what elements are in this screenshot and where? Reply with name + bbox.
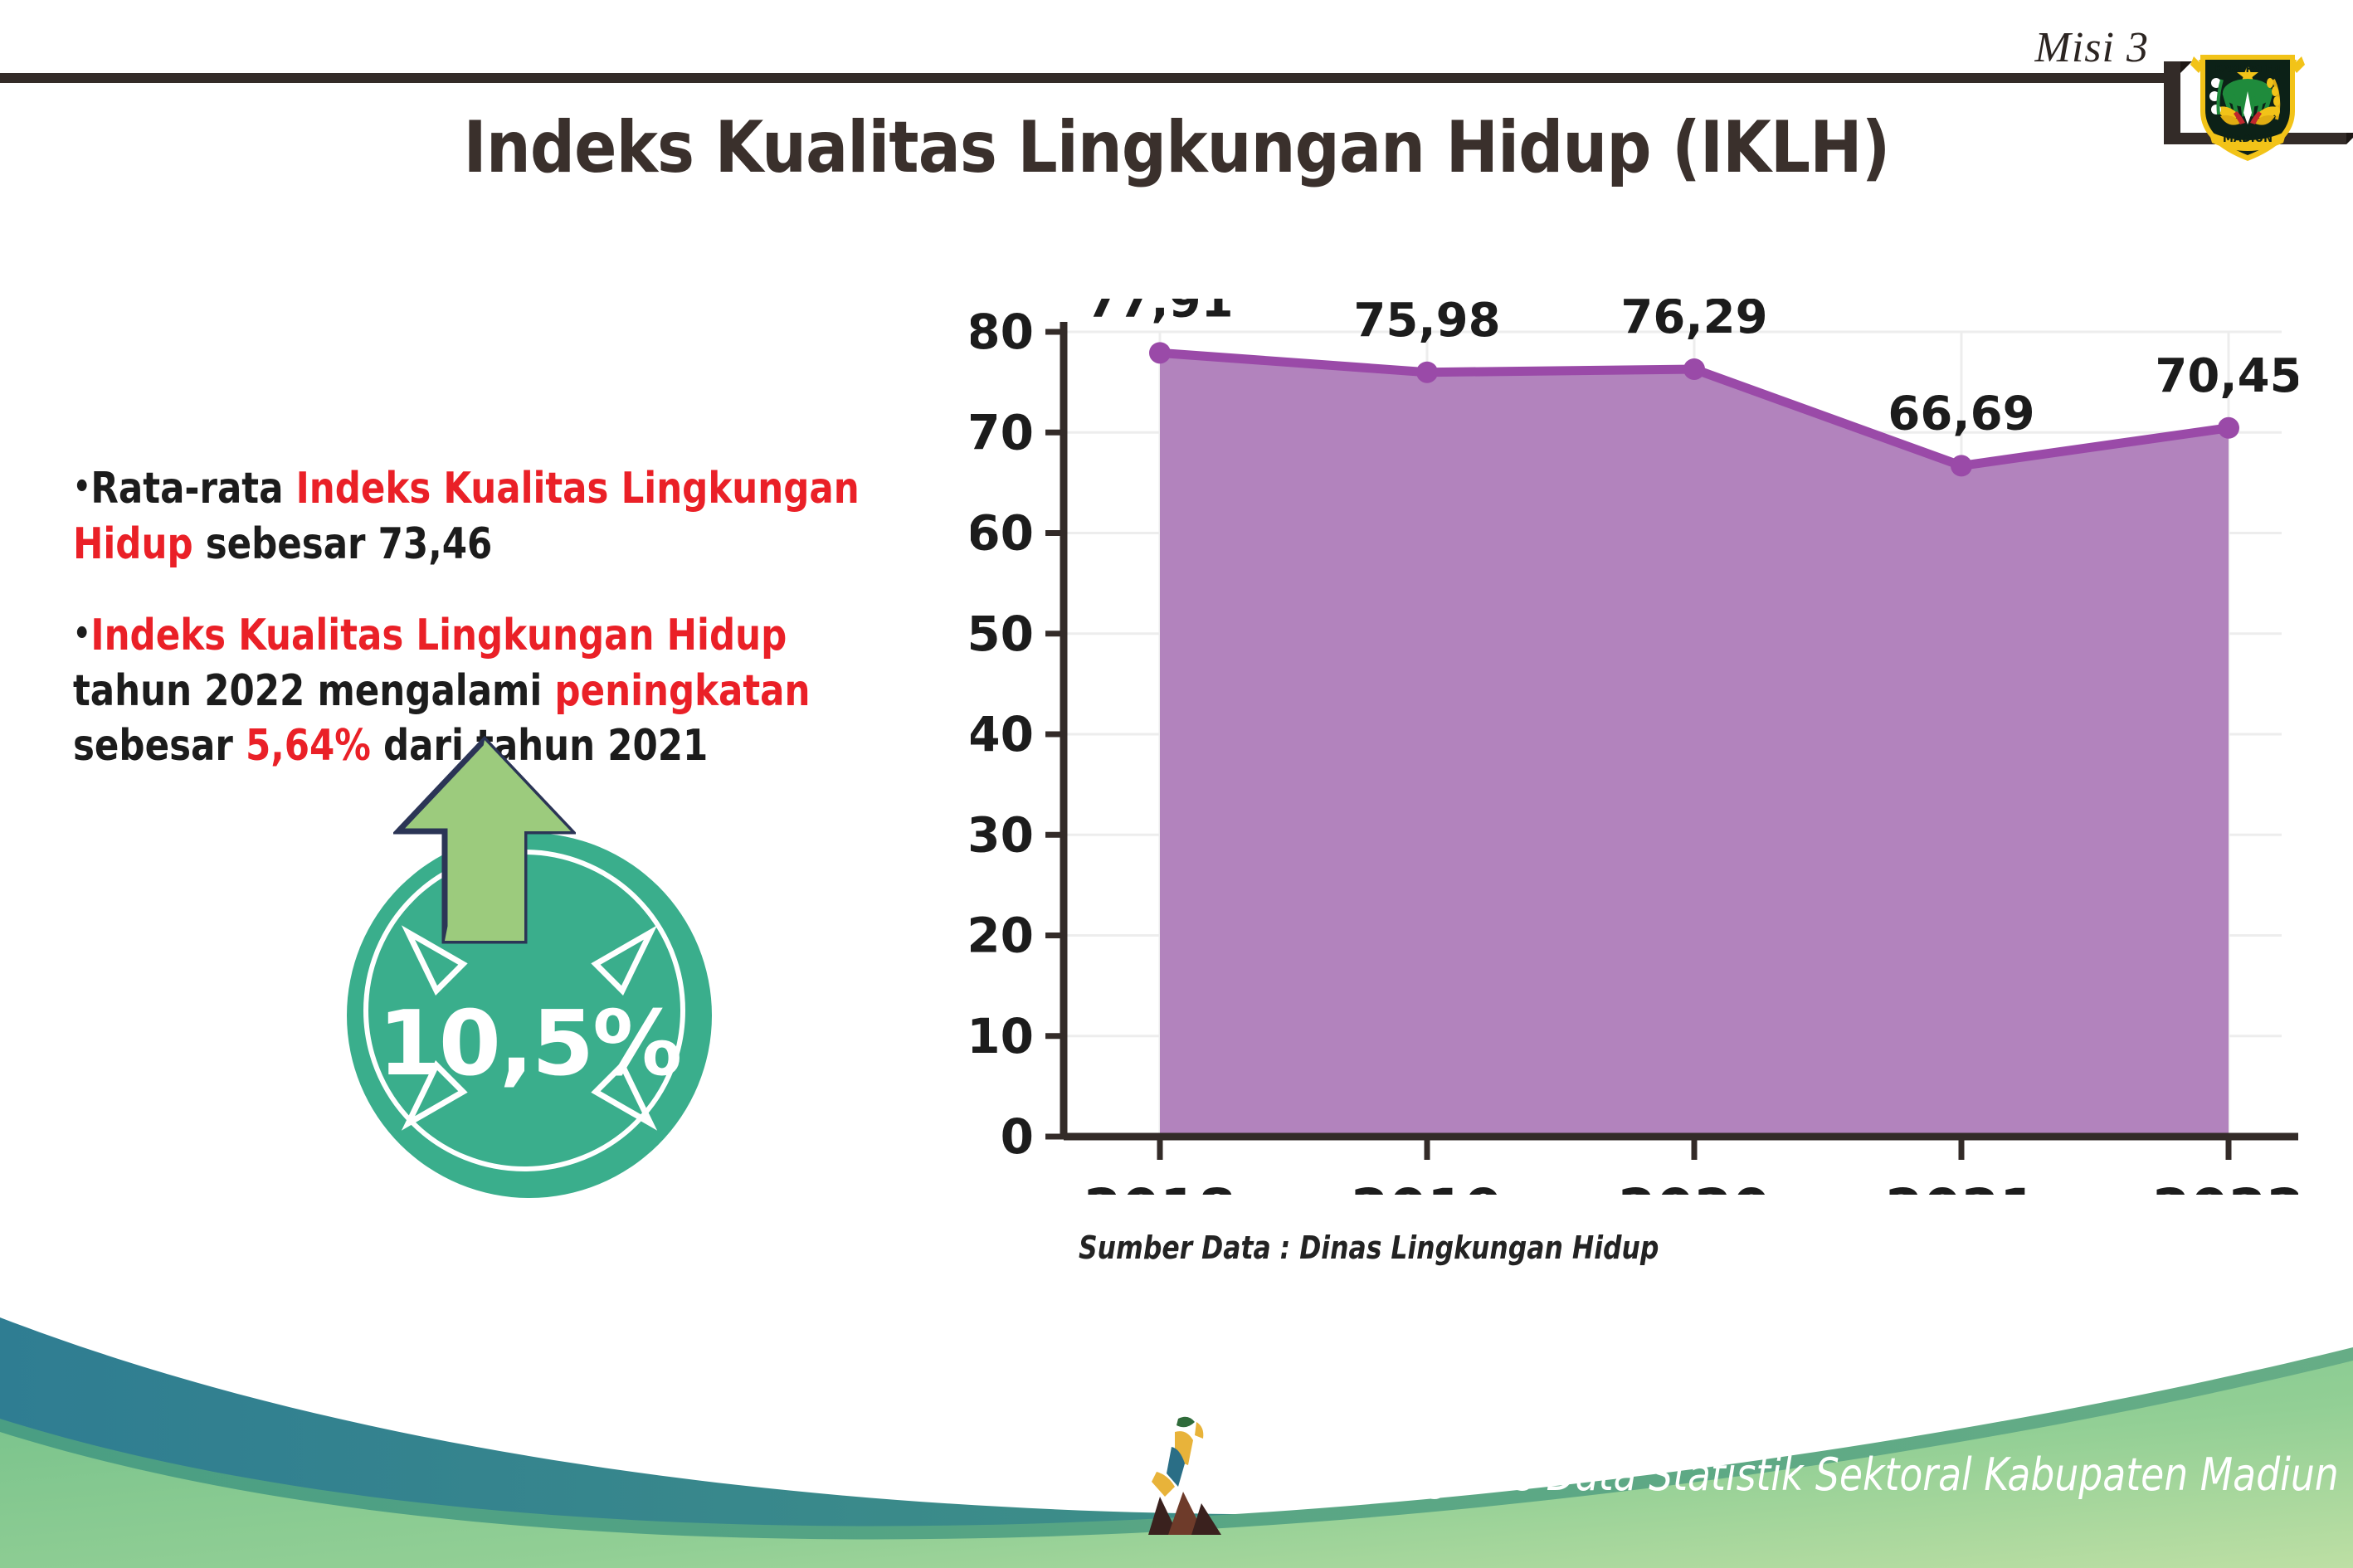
y-axis-tick-label: 20 [971,908,1034,964]
y-axis-tick-label: 70 [971,404,1034,460]
y-axis-tick-label: 10 [971,1008,1034,1064]
x-axis-tick-label: 2018 [1084,1177,1236,1195]
data-point-label: 76,29 [1620,299,1767,344]
page-title: Indeks Kualitas Lingkungan Hidup (IKLH) [141,106,2212,189]
data-point-label: 66,69 [1888,387,2034,441]
crest-bottom-label: MADIUN [2223,133,2273,145]
bullet-text-part: sebesar [73,721,246,771]
x-axis-tick-label: 2020 [1618,1177,1771,1195]
y-axis-tick-label: 30 [971,806,1034,863]
bullet-marker: • [73,615,90,653]
badge-percent-label: 10,5% [347,992,712,1096]
data-point-label: 70,45 [2155,349,2298,403]
chart-source-note: Sumber Data : Dinas Lingkungan Hidup [1079,1230,1659,1266]
increase-badge: 10,5% [330,735,778,1200]
bullet-highlight: peningkatan [554,666,810,716]
bullet-text-part: Rata-rata [90,464,295,514]
bullet-marker: • [73,468,90,506]
y-axis-tick-label: 80 [971,304,1034,360]
bullet-highlight: Indeks Kualitas Lingkungan Hidup [90,611,787,660]
iklh-area-chart: 77,9175,9876,2966,6970,45010203040506070… [971,299,2298,1195]
infographic-slide: Misi 3 [0,0,2353,1568]
media-infografis-logo-icon [1142,1410,1228,1535]
bullet-text-part: tahun 2022 mengalami [73,666,554,716]
list-item: •Rata-rata Indeks Kualitas Lingkungan Hi… [73,461,891,572]
y-axis-tick-label: 0 [1001,1108,1034,1165]
y-axis-tick-label: 40 [971,706,1034,762]
y-axis-tick-label: 60 [971,505,1034,562]
bullet-text-part: sebesar 73,46 [193,519,493,569]
data-point-label: 75,98 [1353,299,1500,348]
misi-label: Misi 3 [2035,23,2149,72]
x-axis-tick-label: 2022 [2152,1177,2298,1195]
header-rule [0,73,2164,83]
footer-caption: Media Infografis Data Statistik Sektoral… [1230,1449,2353,1501]
crest-top-label: KABUPATEN [2214,63,2281,75]
x-axis-tick-label: 2021 [1885,1177,2038,1195]
x-axis-tick-label: 2019 [1351,1177,1503,1195]
data-point-label: 77,91 [1086,299,1233,328]
y-axis-tick-label: 50 [971,606,1034,662]
